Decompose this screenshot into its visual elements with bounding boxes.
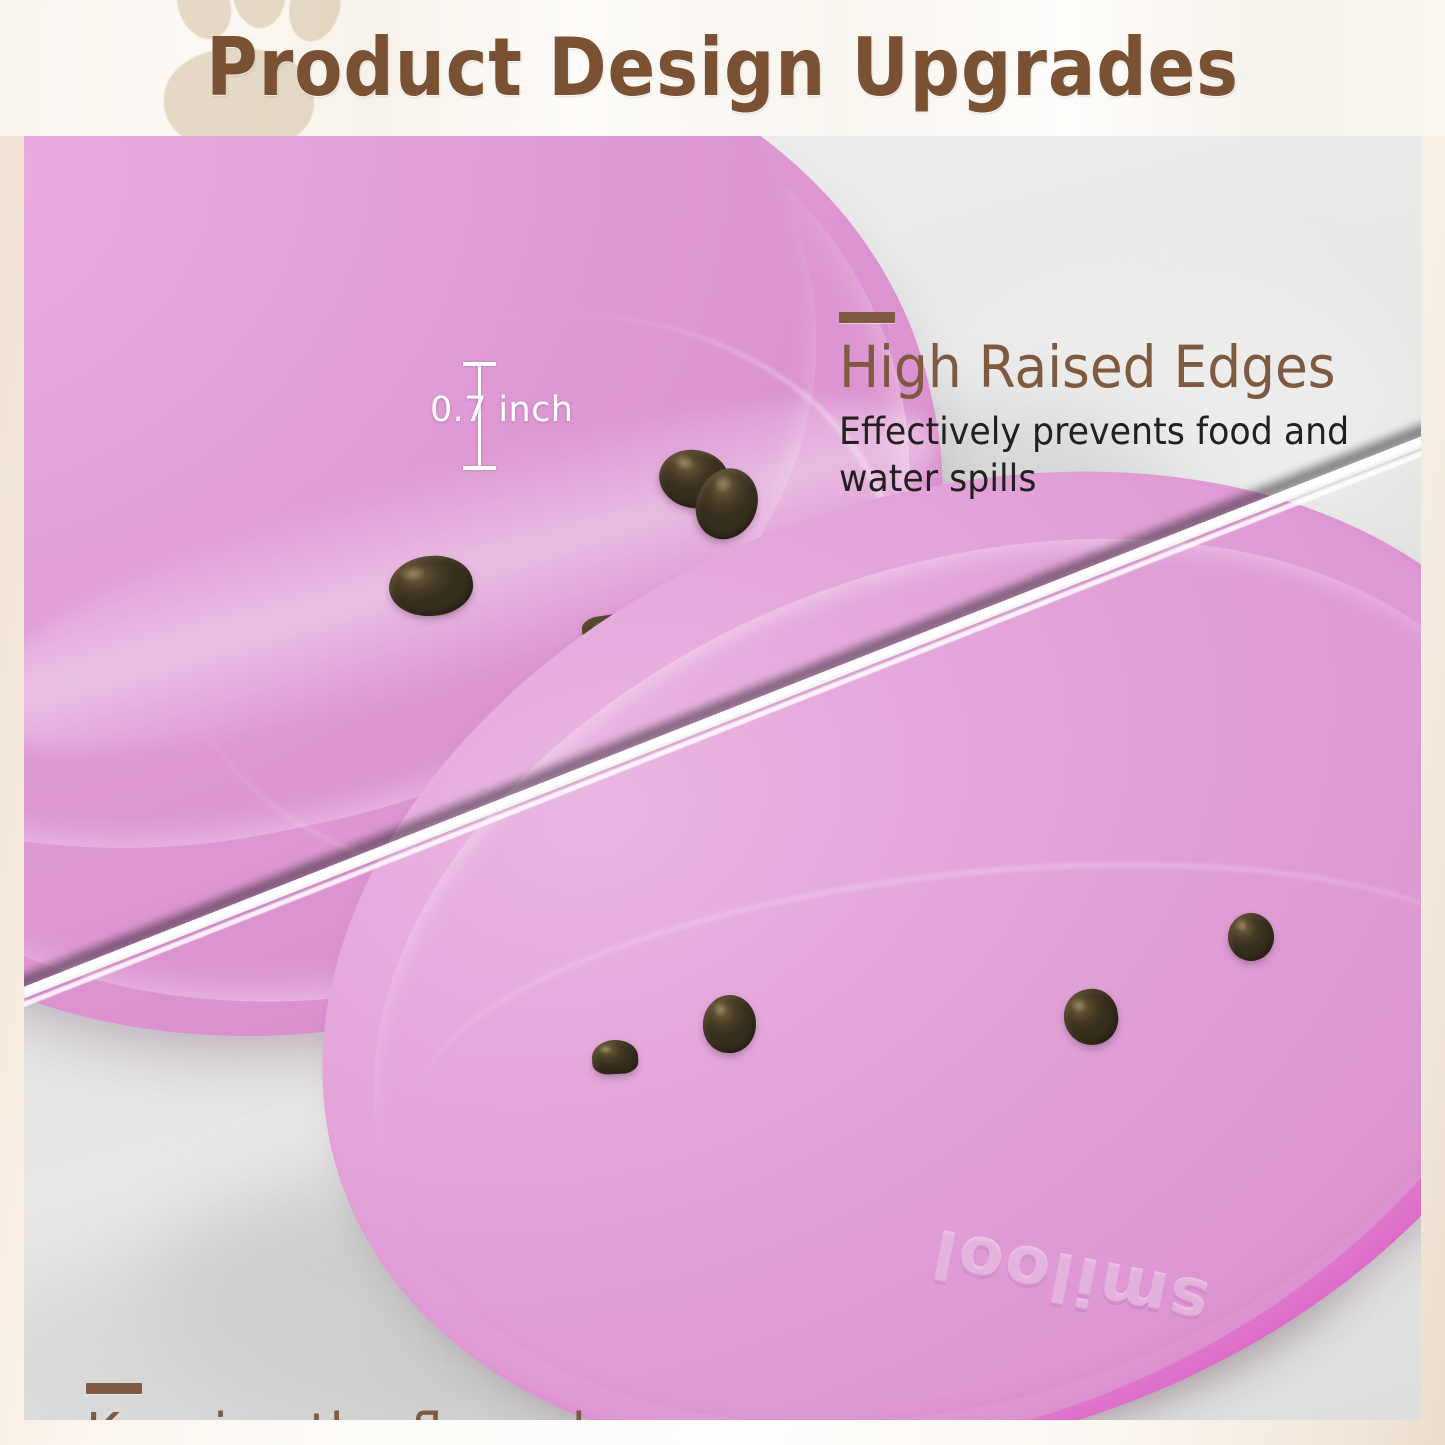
feature-keeping-floor-clean: Keeping the floor clean Minimizes time s… bbox=[86, 1383, 1007, 1420]
feature-body: Effectively prevents food and water spil… bbox=[839, 408, 1386, 503]
product-infographic: Product Design Upgrades 0.7 inch smilool bbox=[0, 0, 1445, 1445]
accent-dash-icon bbox=[86, 1383, 142, 1394]
header-banner: Product Design Upgrades bbox=[0, 0, 1445, 136]
product-photo-panel: 0.7 inch smilool High Raised Edges Effec… bbox=[24, 136, 1421, 1420]
page-title: Product Design Upgrades bbox=[87, 0, 1359, 136]
feature-heading: High Raised Edges bbox=[839, 337, 1374, 398]
feature-heading: Keeping the floor clean bbox=[86, 1406, 933, 1420]
feature-high-raised-edges: High Raised Edges Effectively prevents f… bbox=[839, 312, 1421, 503]
accent-dash-icon bbox=[839, 312, 895, 323]
